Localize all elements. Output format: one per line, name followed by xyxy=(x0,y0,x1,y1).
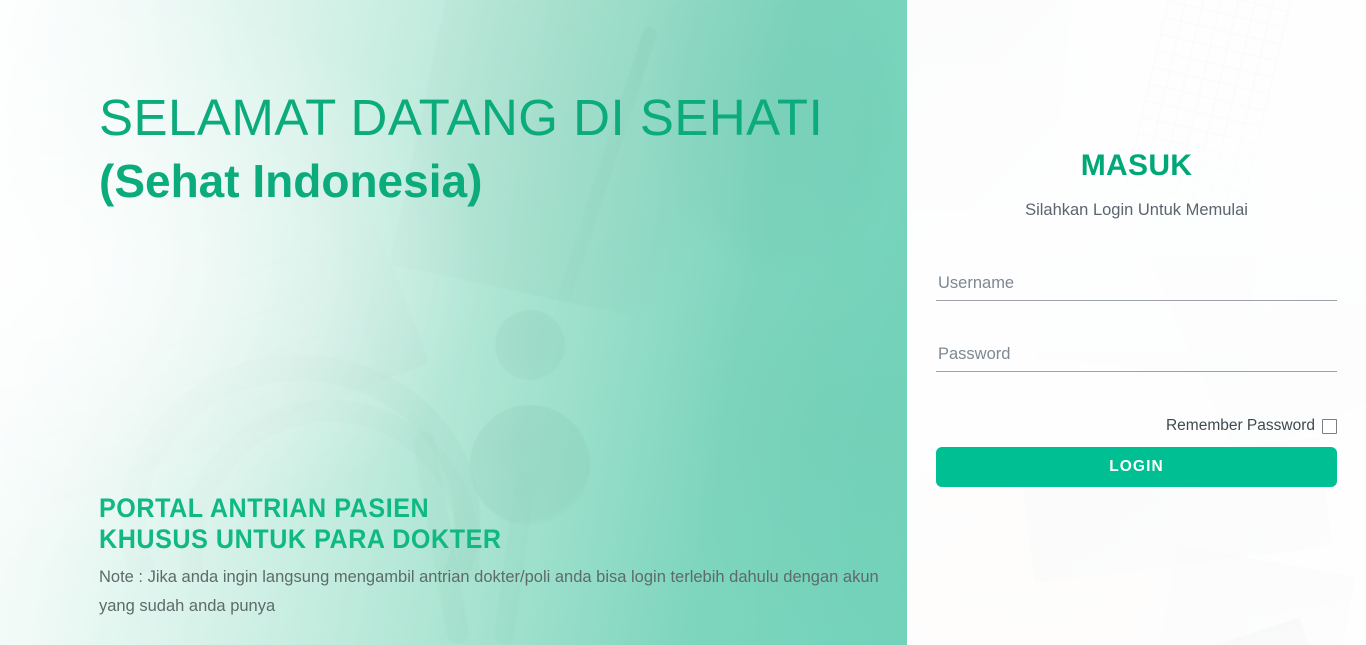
hero-panel: SELAMAT DATANG DI SEHATI (Sehat Indonesi… xyxy=(0,0,907,645)
hero-footer: PORTAL ANTRIAN PASIEN KHUSUS UNTUK PARA … xyxy=(99,493,889,621)
login-subheading: Silahkan Login Untuk Memulai xyxy=(907,201,1366,220)
remember-password-label: Remember Password xyxy=(1166,417,1315,435)
password-input[interactable] xyxy=(936,337,1337,371)
login-heading: MASUK xyxy=(907,149,1366,183)
hero-title-line-2: (Sehat Indonesia) xyxy=(99,150,482,212)
login-panel: MASUK Silahkan Login Untuk Memulai Remem… xyxy=(907,0,1366,645)
login-background-veil xyxy=(907,0,1366,645)
login-page: SELAMAT DATANG DI SEHATI (Sehat Indonesi… xyxy=(0,0,1366,645)
remember-password-checkbox[interactable] xyxy=(1322,419,1337,434)
password-field-wrapper[interactable] xyxy=(936,337,1337,372)
login-button[interactable]: LOGIN xyxy=(936,447,1337,487)
remember-password-row[interactable]: Remember Password xyxy=(1166,417,1337,435)
hero-title-line-1: SELAMAT DATANG DI SEHATI xyxy=(99,86,887,150)
hero-subtitle-line-2: KHUSUS UNTUK PARA DOKTER xyxy=(99,524,834,555)
hero-content: SELAMAT DATANG DI SEHATI (Sehat Indonesi… xyxy=(0,0,907,645)
username-field-wrapper[interactable] xyxy=(936,266,1337,301)
hero-note-text: Note : Jika anda ingin langsung mengambi… xyxy=(99,563,889,621)
hero-subtitle-line-1: PORTAL ANTRIAN PASIEN xyxy=(99,493,834,524)
username-input[interactable] xyxy=(936,266,1337,300)
